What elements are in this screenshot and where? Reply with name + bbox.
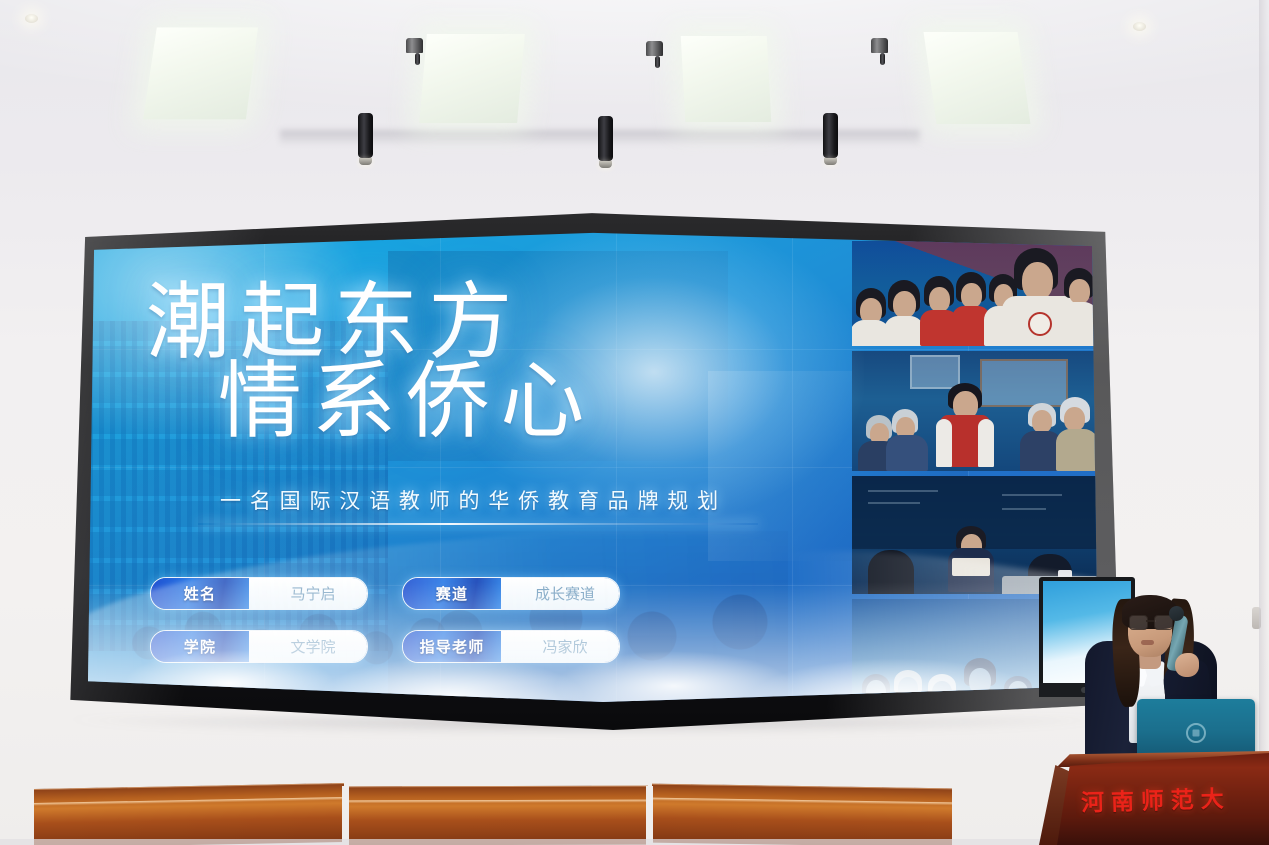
spot-light-3 bbox=[822, 113, 839, 165]
presentation-slide: 潮起东方 情系侨心 一名国际汉语教师的华侨教育品牌规划 姓名 马宁启 赛道 bbox=[88, 231, 1098, 702]
panel-light-3 bbox=[681, 36, 772, 122]
panel-light-4 bbox=[924, 32, 1031, 124]
podium-engraved-text: 河南师范大 bbox=[1081, 778, 1269, 817]
downlight-left bbox=[25, 14, 38, 23]
wood-panel-2 bbox=[348, 786, 648, 845]
slide-title-line-2: 情系侨心 bbox=[218, 359, 820, 445]
screen-display-area: 潮起东方 情系侨心 一名国际汉语教师的华侨教育品牌规划 姓名 马宁启 赛道 bbox=[88, 231, 1098, 702]
slide-subtitle-rule bbox=[198, 523, 758, 525]
volunteer-with-elderly-photo bbox=[852, 351, 1098, 471]
laptop[interactable] bbox=[1137, 699, 1255, 757]
downlight-right bbox=[1133, 22, 1146, 31]
eyeglasses-icon bbox=[1129, 615, 1173, 629]
presenter-area: 河南师范大 bbox=[1039, 545, 1269, 845]
slide-title: 潮起东方 情系侨心 bbox=[140, 281, 820, 445]
wall-wood-panels bbox=[0, 786, 1060, 845]
presenter-mouth bbox=[1141, 640, 1154, 645]
panel-light-2 bbox=[419, 34, 525, 123]
wood-panel-gap-2 bbox=[646, 786, 653, 845]
panel-light-1 bbox=[143, 27, 258, 119]
wood-panel-3 bbox=[652, 784, 952, 845]
spot-light-1 bbox=[357, 113, 374, 165]
spot-light-2 bbox=[597, 116, 614, 168]
laptop-logo-icon bbox=[1186, 723, 1206, 743]
slide-subtitle: 一名国际汉语教师的华侨教育品牌规划 bbox=[220, 485, 727, 515]
wood-panel-1 bbox=[34, 783, 344, 845]
slide-title-line-1: 潮起东方 bbox=[146, 281, 820, 363]
projection-screen: 潮起东方 情系侨心 一名国际汉语教师的华侨教育品牌规划 姓名 马宁启 赛道 bbox=[64, 210, 1120, 730]
students-group-photo bbox=[852, 241, 1098, 346]
presenter-hand bbox=[1175, 653, 1199, 677]
lecture-hall-scene: 潮起东方 情系侨心 一名国际汉语教师的华侨教育品牌规划 姓名 马宁启 赛道 bbox=[0, 0, 1269, 845]
wood-panel-gap-1 bbox=[342, 786, 349, 845]
